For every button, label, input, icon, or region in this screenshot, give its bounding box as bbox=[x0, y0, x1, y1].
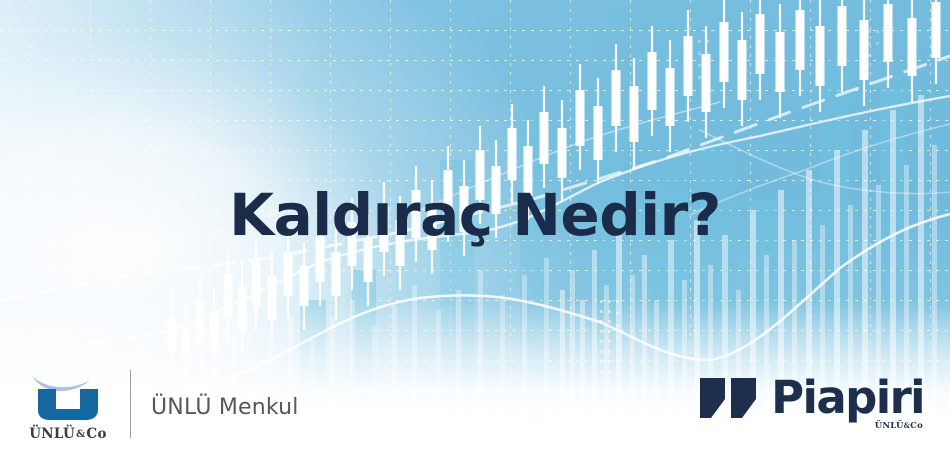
banner: Kaldıraç Nedir? ÜNLÜ&Co ÜNLÜ Menkul Piap bbox=[0, 0, 950, 450]
piapiri-logo[interactable]: Piapiri ÜNLÜ&Co bbox=[698, 376, 924, 420]
brand-divider bbox=[130, 370, 131, 438]
piapiri-double-flag-icon bbox=[698, 376, 760, 420]
brand-lockup-left: ÜNLÜ&Co ÜNLÜ Menkul bbox=[22, 370, 299, 442]
piapiri-sub-wordmark: ÜNLÜ&Co bbox=[875, 421, 923, 431]
unlu-co-wordmark: ÜNLÜ&Co bbox=[22, 426, 114, 442]
unlu-word-text: ÜNLÜ bbox=[29, 426, 75, 442]
page-title: Kaldıraç Nedir? bbox=[0, 186, 950, 244]
unlu-suffix: Co bbox=[86, 426, 106, 442]
footer: ÜNLÜ&Co ÜNLÜ Menkul Piapiri ÜNLÜ&Co bbox=[0, 340, 950, 450]
piapiri-wordmark-group: Piapiri ÜNLÜ&Co bbox=[771, 377, 924, 418]
unlu-u-mark-icon bbox=[30, 370, 106, 422]
piapiri-sub-suffix: Co bbox=[910, 421, 923, 431]
unlu-amp: & bbox=[75, 429, 86, 440]
piapiri-sub-word: ÜNLÜ bbox=[875, 421, 904, 431]
piapiri-wordmark: Piapiri bbox=[771, 377, 924, 418]
unlu-co-logo[interactable]: ÜNLÜ&Co bbox=[22, 370, 114, 442]
sub-brand-label: ÜNLÜ Menkul bbox=[151, 395, 299, 442]
